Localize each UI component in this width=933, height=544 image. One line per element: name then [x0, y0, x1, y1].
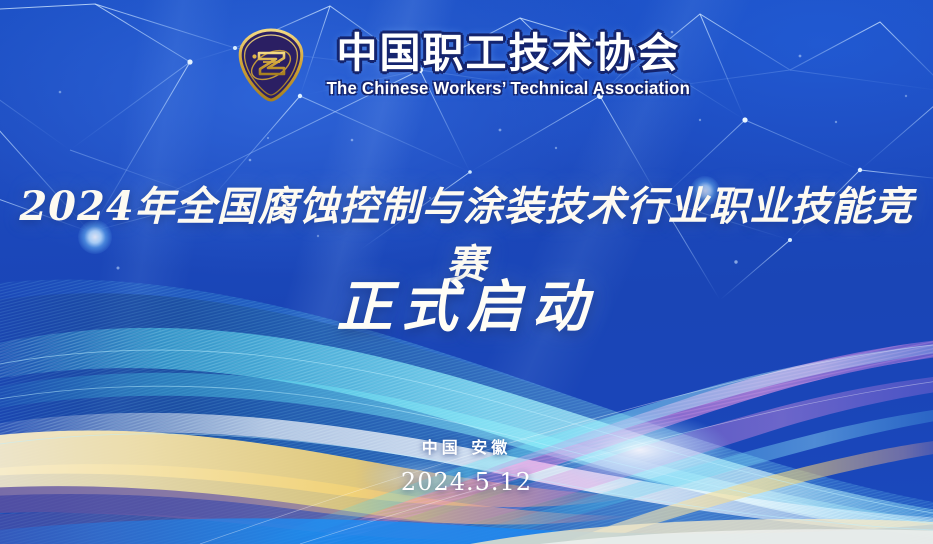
shield-emblem-icon — [235, 26, 307, 104]
association-brand: 中国职工技术协会 The Chinese Workers’ Technical … — [0, 26, 933, 104]
brand-text-block: 中国职工技术协会 The Chinese Workers’ Technical … — [319, 33, 698, 98]
event-poster: 中国职工技术协会 The Chinese Workers’ Technical … — [0, 0, 933, 544]
launch-status-text: 正式启动 — [0, 262, 933, 343]
association-name-en: The Chinese Workers’ Technical Associati… — [327, 80, 690, 98]
event-location: 中国 安徽 — [0, 434, 933, 458]
event-date: 2024.5.12 — [0, 468, 933, 496]
association-name-cn: 中国职工技术协会 — [336, 33, 680, 74]
